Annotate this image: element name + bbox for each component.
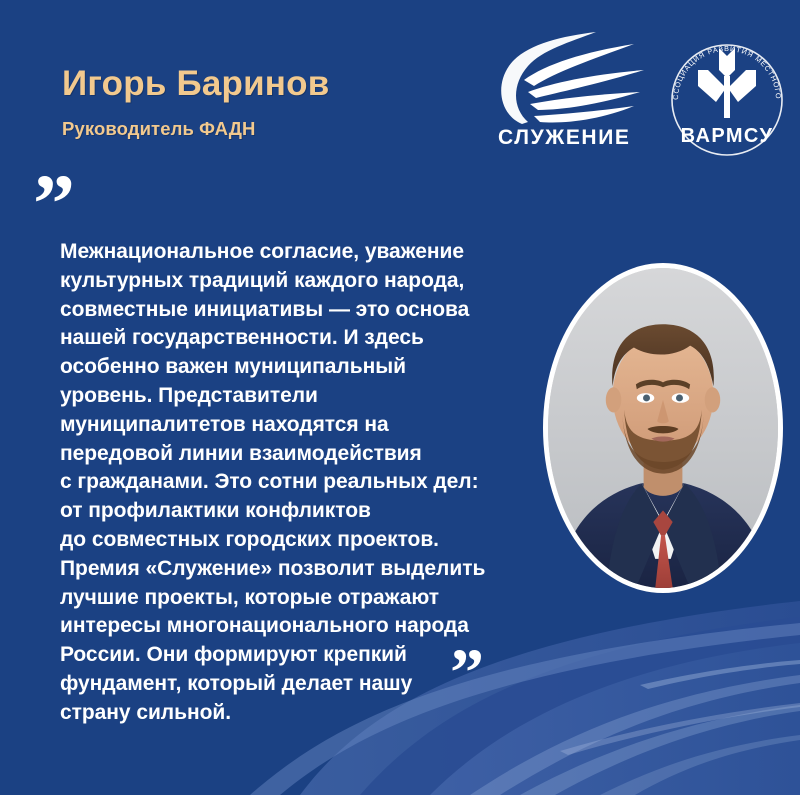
quote-line: нашей государственности. И здесь <box>60 324 530 353</box>
quote-line: особенно важен муниципальный <box>60 353 530 382</box>
quote-line: России. Они формируют крепкий <box>60 641 530 670</box>
avatar <box>543 263 783 593</box>
quote-line: культурных традиций каждого народа, <box>60 267 530 296</box>
quote-line: лучшие проекты, которые отражают <box>60 584 530 613</box>
logo-sluzhenie-wordmark: СЛУЖЕНИЕ <box>498 126 631 150</box>
quote-line: передовой линии взаимодействия <box>60 440 530 469</box>
quote-line: уровень. Представители <box>60 382 530 411</box>
quote-line: Премия «Служение» позволит выделить <box>60 555 530 584</box>
quote-line: интересы многонационального народа <box>60 612 530 641</box>
quote-line: от профилактики конфликтов <box>60 497 530 526</box>
quote-text: Межнациональное согласие, уважение культ… <box>60 238 530 728</box>
quote-line: фундамент, который делает нашу <box>60 670 530 699</box>
quote-line: совместные инициативы — это основа <box>60 296 530 325</box>
quote-mark-open: ” <box>33 163 75 247</box>
speaker-role: Руководитель ФАДН <box>62 118 329 140</box>
quote-card: Игорь Баринов Руководитель ФАДН СЛУЖЕНИЕ <box>0 0 800 795</box>
bird-wing-icon <box>484 28 654 132</box>
page-title: Игорь Баринов <box>62 66 329 103</box>
logo-varmsu: ВСЕРОССИЙСКАЯ АССОЦИАЦИЯ РАЗВИТИЯ МЕСТНО… <box>662 26 792 159</box>
logo-sluzhenie: СЛУЖЕНИЕ <box>484 28 654 156</box>
quote-line: Межнациональное согласие, уважение <box>60 238 530 267</box>
speaker-portrait <box>548 268 778 588</box>
speaker-block: Игорь Баринов Руководитель ФАДН <box>62 66 329 140</box>
quote-line: с гражданами. Это сотни реальных дел: <box>60 468 530 497</box>
logo-varmsu-wordmark: ВАРМСУ <box>662 125 792 148</box>
header: Игорь Баринов Руководитель ФАДН СЛУЖЕНИЕ <box>0 0 800 180</box>
quote-line: страну сильной. <box>60 699 530 728</box>
quote-line: до совместных городских проектов. <box>60 526 530 555</box>
quote-line: муниципалитетов находятся на <box>60 411 530 440</box>
